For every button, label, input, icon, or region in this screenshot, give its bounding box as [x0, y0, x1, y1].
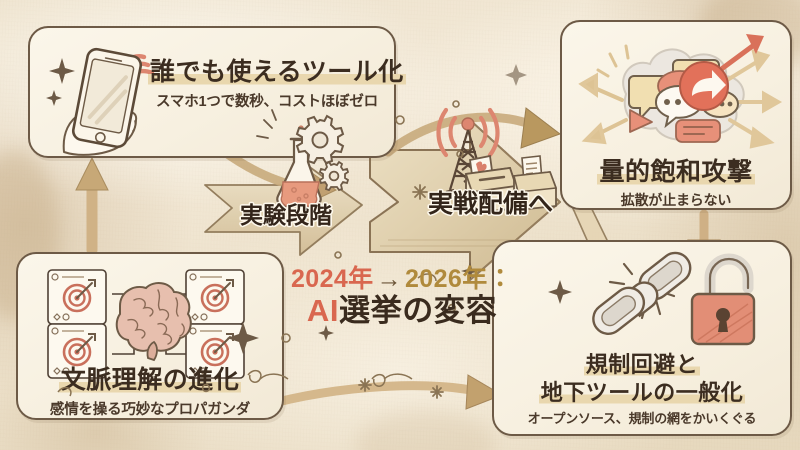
stage-label-experiment: 実験段階 — [240, 196, 332, 230]
headline-arrow-icon: → — [374, 265, 405, 293]
card-title-tool: 誰でも使えるツール化 — [148, 58, 386, 87]
card-quantitative-saturation[interactable]: 量的飽和攻撃 拡散が止まらない — [560, 20, 792, 210]
headline-year-to: 2026年： — [405, 265, 513, 293]
card-subtitle-saturation: 拡散が止まらない — [562, 190, 790, 210]
headline-subject-main: 選挙の変容 — [339, 293, 497, 328]
headline-subject: AI選挙の変容 — [252, 294, 552, 329]
card-title-evasion-line2: 地下ツールの一般化 — [494, 380, 790, 406]
brain-targeting-network-icon — [34, 262, 264, 382]
card-context-understanding[interactable]: 文脈理解の進化 感情を操る巧妙なプロパガンダ — [16, 252, 284, 420]
card-subtitle-context: 感情を操る巧妙なプロパガンダ — [18, 398, 282, 419]
hand-holding-smartphone-icon — [36, 28, 166, 158]
infographic-canvas: 誰でも使えるツール化 スマホ1つで数秒、コストほぼゼロ — [0, 0, 800, 450]
headline-years: 2024年→2026年： — [252, 266, 552, 293]
brain-icon — [117, 283, 191, 360]
speech-bubble-cluster-icon — [564, 28, 794, 153]
broken-chain-open-padlock-icon — [586, 248, 786, 358]
card-tool-democratization[interactable]: 誰でも使えるツール化 スマホ1つで数秒、コストほぼゼロ — [28, 26, 396, 158]
card-title-evasion-line1: 規制回避と — [494, 352, 790, 378]
headline-year-from: 2024年 — [291, 265, 374, 293]
headline-subject-prefix: AI — [307, 293, 339, 328]
center-headline: 2024年→2026年： AI選挙の変容 — [252, 266, 552, 328]
stage-label-deployment: 実戦配備へ — [428, 184, 553, 220]
connector-arrow-deployment-to-saturation — [388, 108, 560, 152]
padlock-open-icon — [692, 259, 754, 344]
card-subtitle-tool: スマホ1つで数秒、コストほぼゼロ — [148, 90, 386, 111]
card-subtitle-evasion: オープンソース、規制の網をかいくぐる — [494, 408, 790, 427]
card-title-context: 文脈理解の進化 — [18, 366, 282, 395]
connector-arrow-context-to-tool — [76, 158, 108, 250]
card-title-saturation: 量的飽和攻撃 — [562, 158, 790, 187]
connector-arrow-context-to-evasion — [262, 375, 502, 409]
sparkle-icon — [46, 58, 75, 106]
